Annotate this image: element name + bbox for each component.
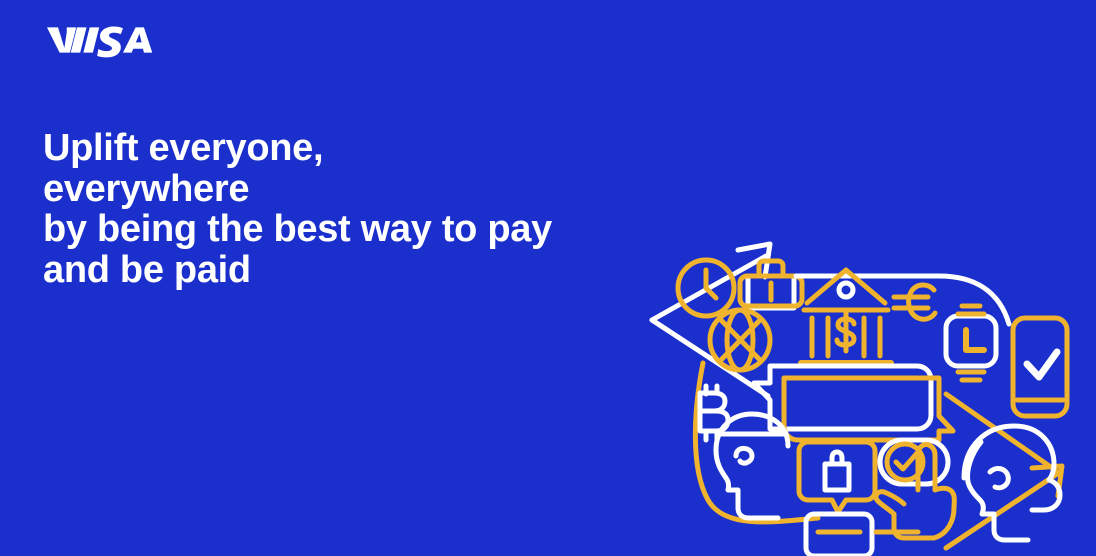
visa-brand-slide: Uplift everyone, everywhere by being the… xyxy=(0,0,1096,556)
smartwatch-icon xyxy=(946,306,996,380)
euro-sign-icon xyxy=(894,285,935,319)
bank-icon xyxy=(801,270,891,363)
smartphone-icon xyxy=(1013,318,1067,416)
page-title: Uplift everyone, everywhere by being the… xyxy=(43,128,603,290)
dollar-sign-icon xyxy=(837,313,854,351)
visa-logo xyxy=(40,21,160,59)
smartwatch-clock-face-icon xyxy=(966,330,984,350)
shopping-bag-icon xyxy=(825,452,849,490)
shopping-bag-bubble-icon xyxy=(799,442,875,512)
payments-ecosystem-illustration xyxy=(628,228,1096,556)
check-circle-pill-icon xyxy=(880,440,948,484)
checkmark-icon xyxy=(1027,352,1057,377)
speech-bubble-white-icon xyxy=(754,366,931,429)
globe-icon xyxy=(710,310,770,370)
clock-icon xyxy=(678,260,734,316)
